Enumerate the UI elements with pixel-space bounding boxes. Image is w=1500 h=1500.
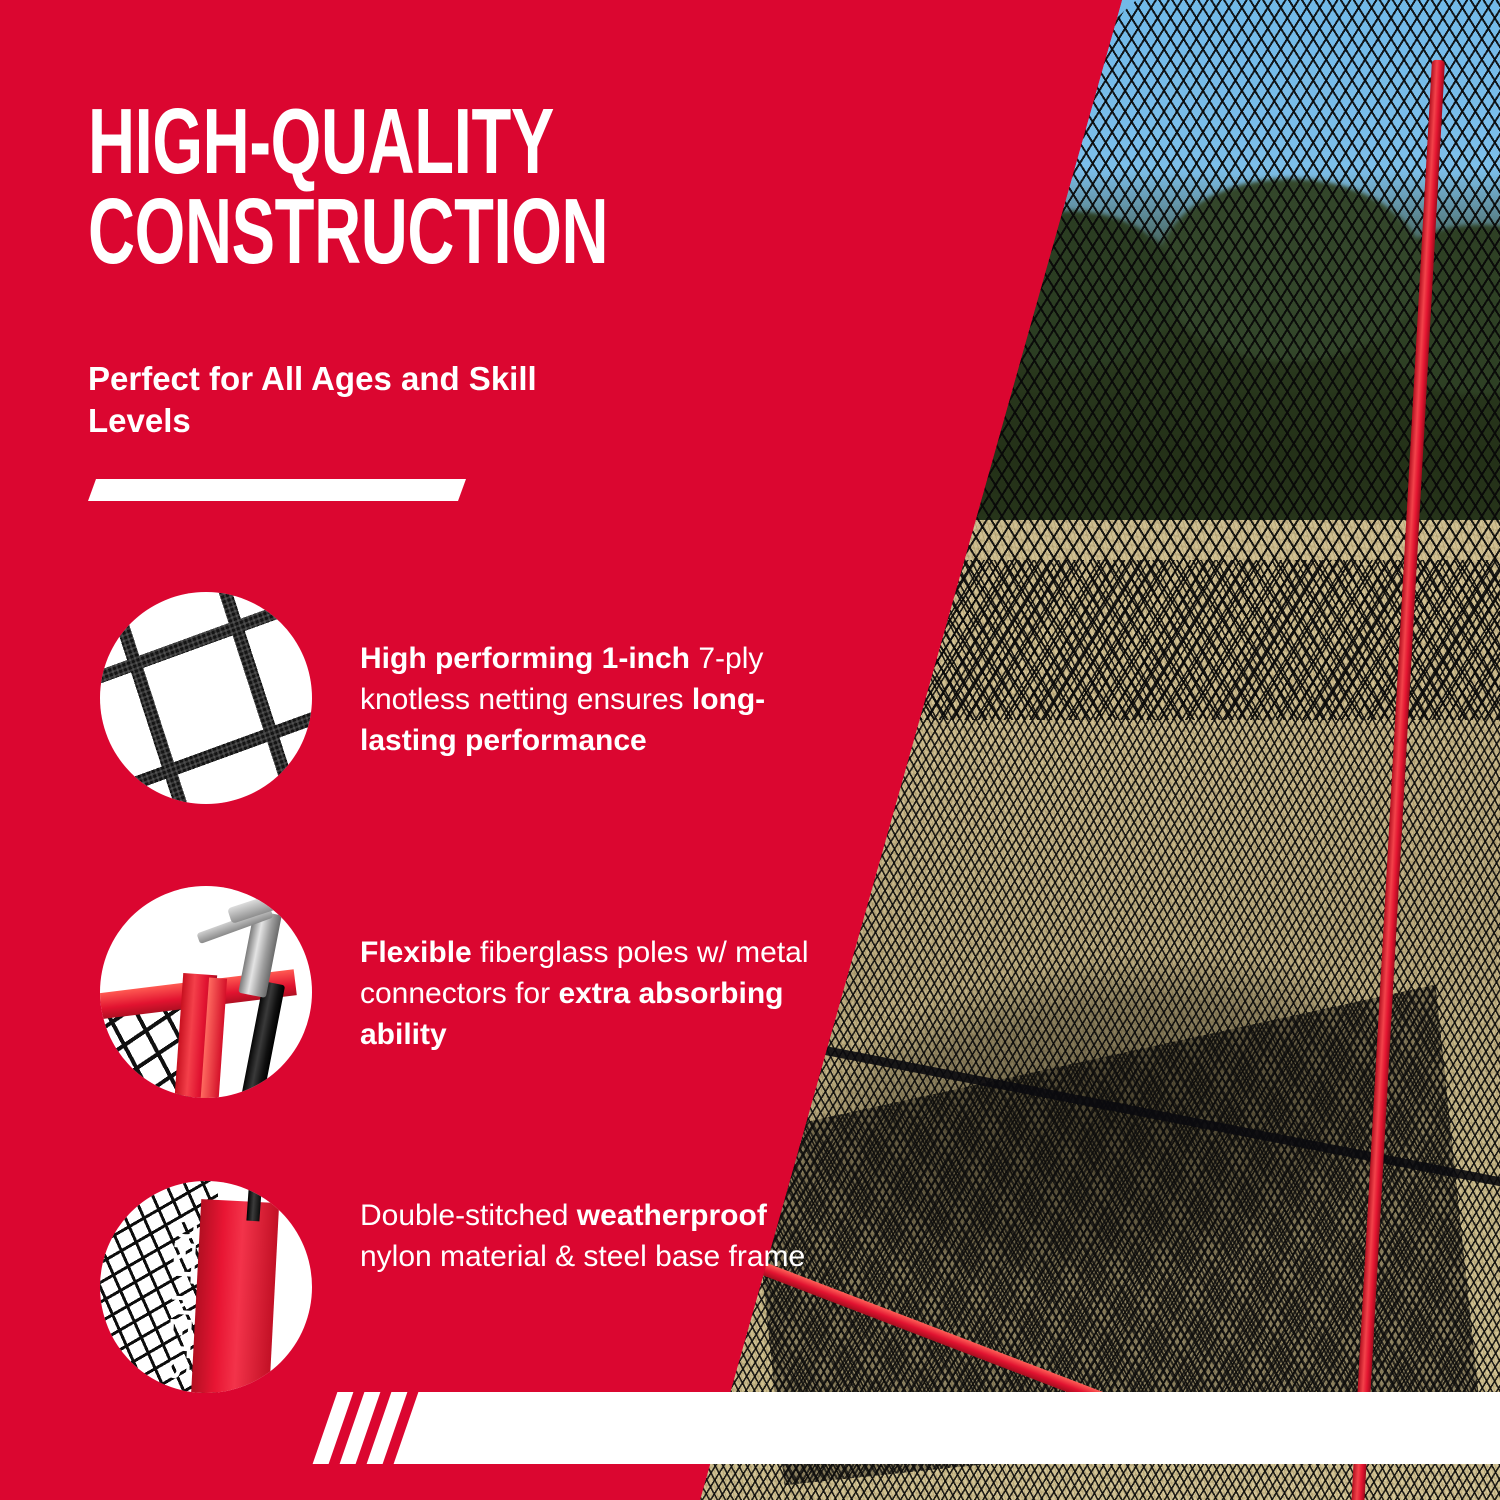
feature-text: Flexible fiberglass poles w/ metal conne…: [360, 886, 820, 1055]
feature-text: Double-stitched weatherproof nylon mater…: [360, 1181, 820, 1277]
page-title: HIGH-QUALITY CONSTRUCTION: [88, 96, 536, 276]
knotless-netting-closeup-icon: [100, 592, 312, 804]
product-feature-banner: HIGH-QUALITY CONSTRUCTION Perfect for Al…: [0, 0, 1500, 1500]
feature-row: High performing 1-inch 7-ply knotless ne…: [100, 592, 820, 804]
headline-line-2: CONSTRUCTION: [88, 186, 536, 276]
subheadline: Perfect for All Ages and Skill Levels: [88, 358, 628, 442]
headline-line-1: HIGH-QUALITY: [88, 89, 554, 193]
divider-bar: [88, 479, 466, 501]
bottom-stripe-decoration: [0, 1320, 1500, 1500]
feature-text: High performing 1-inch 7-ply knotless ne…: [360, 592, 820, 761]
fiberglass-pole-connector-closeup-icon: [100, 886, 312, 1098]
stripe-bar: [394, 1392, 1500, 1464]
feature-row: Flexible fiberglass poles w/ metal conne…: [100, 886, 820, 1098]
netting-braid-texture: [100, 592, 312, 804]
